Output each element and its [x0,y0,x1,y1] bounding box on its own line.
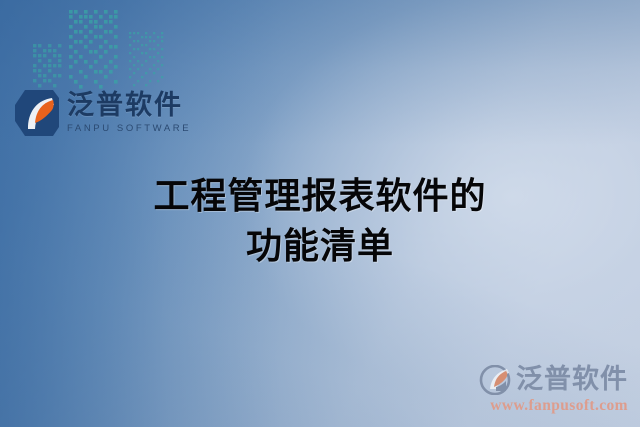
brand-name-en: FANPU SOFTWARE [67,124,191,134]
brand-name-cn: 泛普软件 [67,92,191,119]
fanpu-watermark-icon [478,365,512,395]
brand-text: 泛普软件 FANPU SOFTWARE [67,92,191,134]
watermark-brand-row: 泛普软件 [478,365,628,395]
pixel-skyline-decoration [32,0,182,90]
slide-title: 工程管理报表软件的 功能清单 [0,172,640,272]
watermark-url: www.fanpusoft.com [478,398,628,414]
slide-title-line-2: 功能清单 [0,222,640,272]
watermark-name-cn: 泛普软件 [516,366,628,393]
fanpu-logo-icon [12,88,60,138]
brand-logo: 泛普软件 FANPU SOFTWARE [12,88,191,138]
slide-title-line-1: 工程管理报表软件的 [0,172,640,222]
watermark: 泛普软件 www.fanpusoft.com [478,365,628,414]
slide-canvas: 泛普软件 FANPU SOFTWARE 工程管理报表软件的 功能清单 泛普软件 … [0,0,640,427]
